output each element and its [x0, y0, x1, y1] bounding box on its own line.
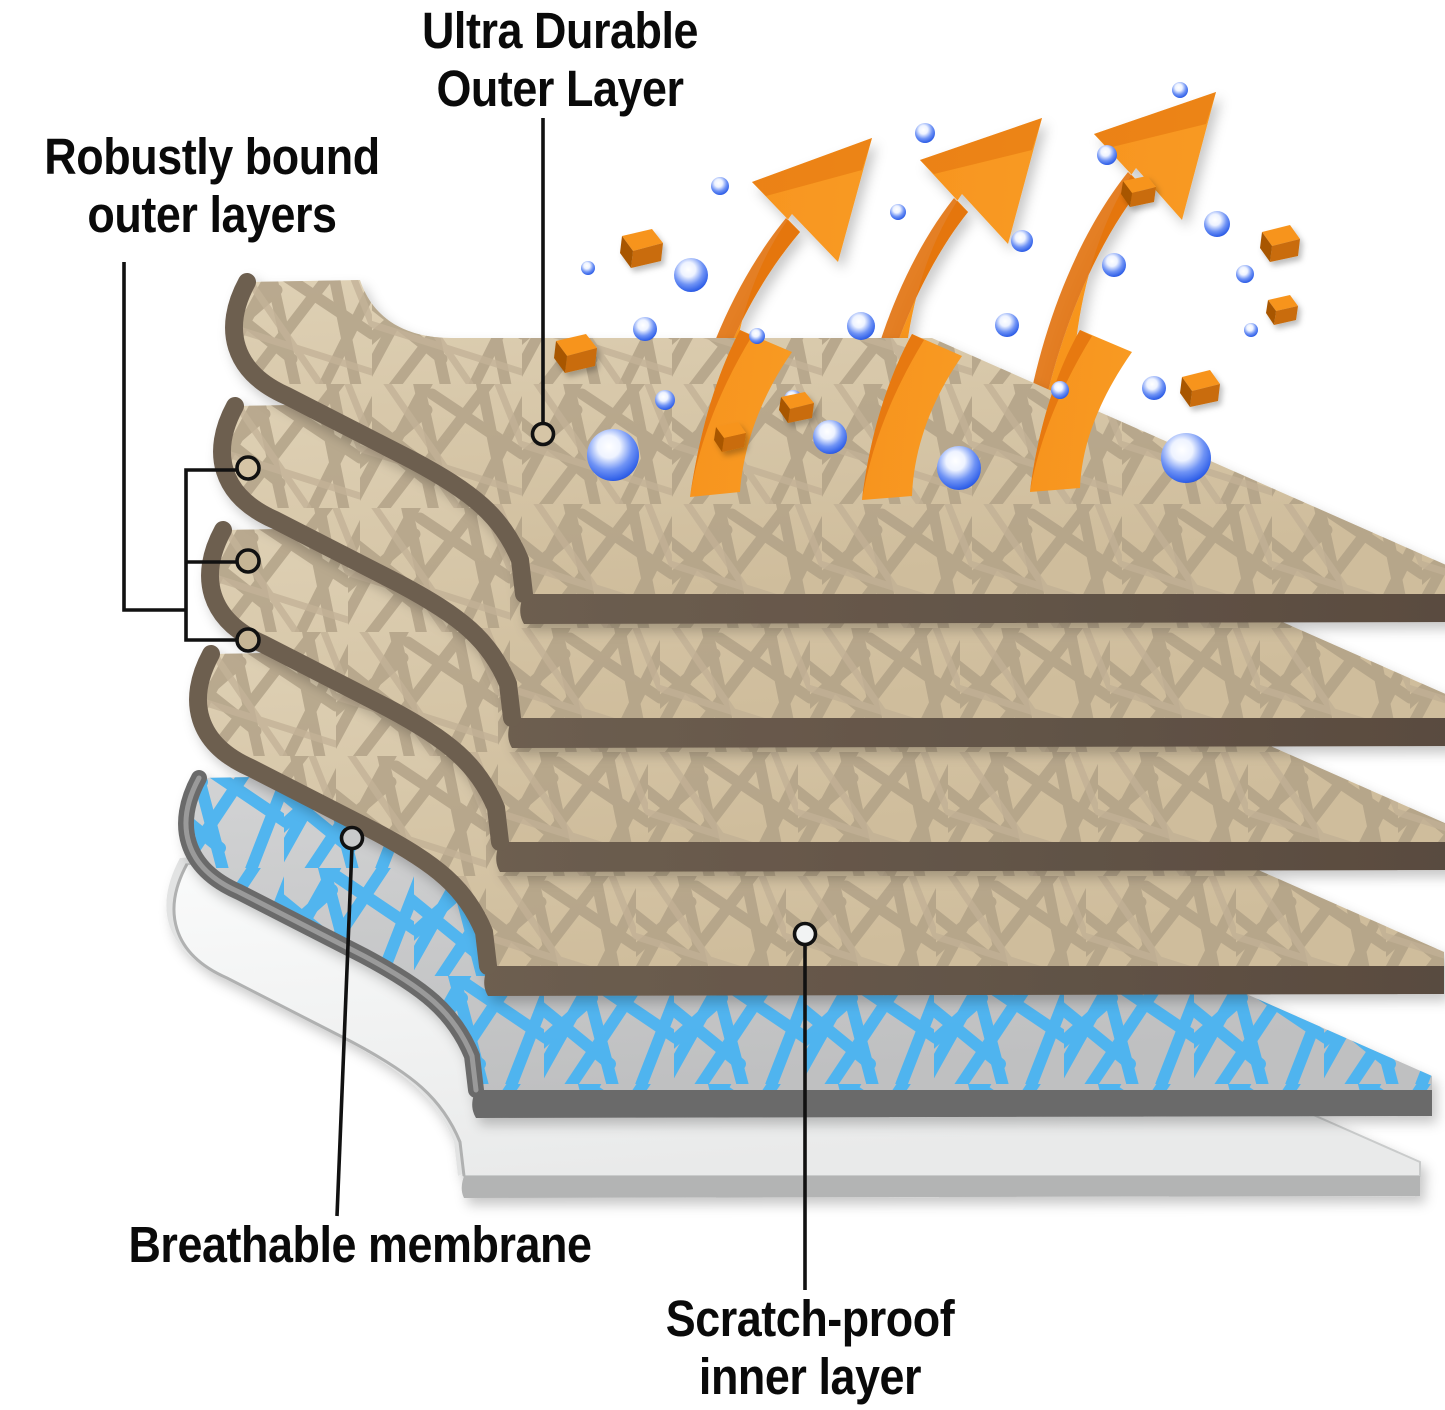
- label-robustly-bound-outer-layers: Robustly bound outer layers: [10, 128, 415, 243]
- dirt-cube: [620, 229, 663, 268]
- label-breathable-membrane: Breathable membrane: [70, 1216, 651, 1274]
- dirt-cube: [1260, 225, 1300, 262]
- layered-fabric-diagram: Ultra Durable Outer Layer Robustly bound…: [0, 0, 1445, 1410]
- dirt-cube: [1180, 370, 1220, 407]
- label-ultra-durable-outer-layer: Ultra Durable Outer Layer: [331, 2, 789, 117]
- label-scratch-proof-inner-layer: Scratch-proof inner layer: [603, 1290, 1017, 1405]
- dirt-cube: [1266, 295, 1298, 325]
